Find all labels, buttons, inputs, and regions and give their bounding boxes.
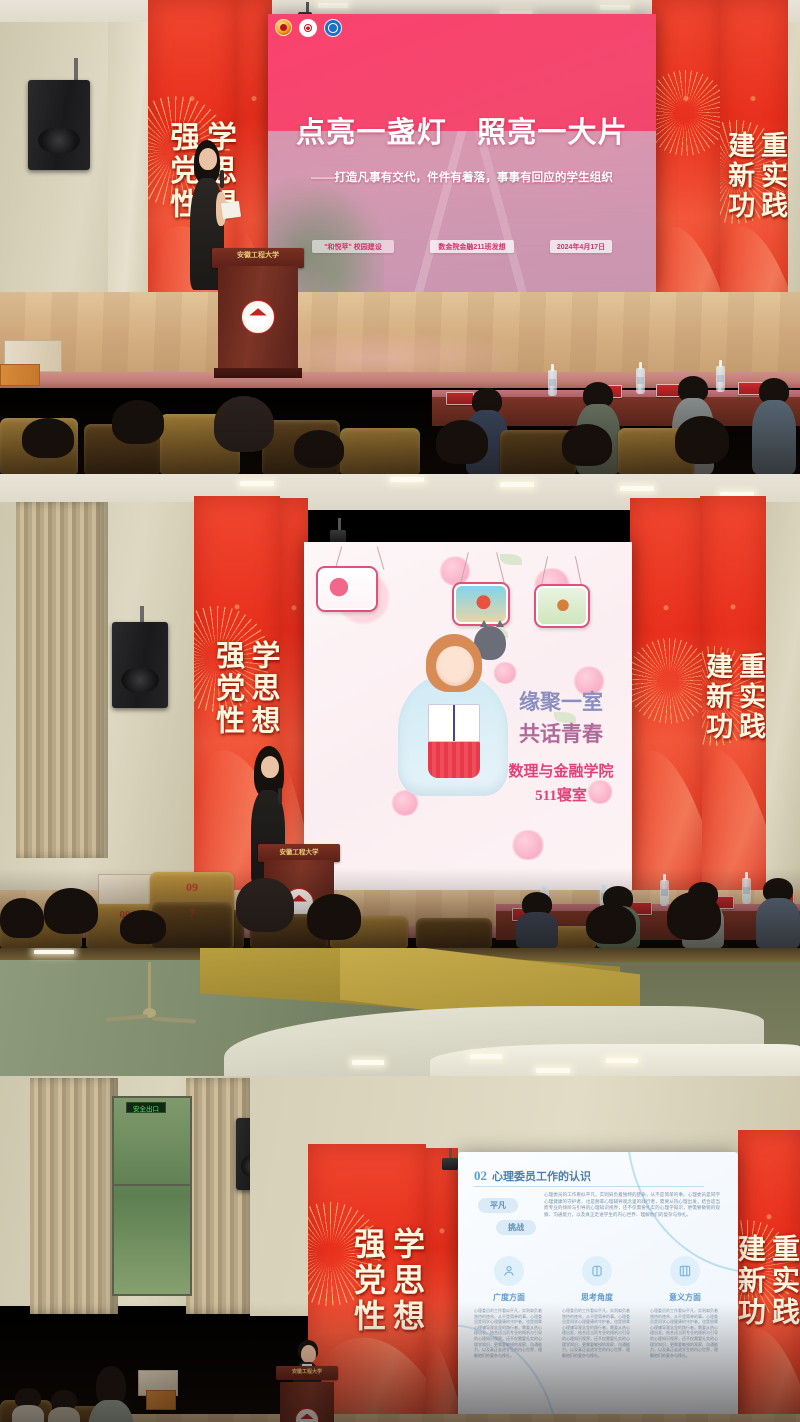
stage-backdrop-center (426, 1148, 458, 1422)
audience-member (20, 418, 76, 474)
slide-logos (275, 19, 342, 37)
audience-member (664, 892, 724, 948)
slide-line-2: 共话青春 (496, 718, 626, 748)
youth-league-emblem-icon (275, 19, 292, 36)
photo-collage: 学思想 强党性 重实践 建新功 (0, 0, 800, 1422)
presenter-head (199, 148, 217, 170)
wall-speaker (112, 622, 168, 708)
stage-backdrop-right (630, 498, 702, 890)
audience-member (118, 910, 170, 948)
audience-member (584, 904, 640, 948)
banner-right-text: 重实践 建新功 (738, 1146, 800, 1418)
slide-heading: 02 心理委员工作的认识 (474, 1168, 591, 1184)
picture-frame-octopus (316, 566, 378, 612)
picture-frame-bear (534, 584, 590, 628)
cardboard-box (0, 364, 40, 386)
firework-icon (652, 70, 720, 156)
column-body-3: 心理委员的工作看似平凡，实则肩负着独特的使命，从不是简单的事。心理委员是同学心理… (650, 1308, 718, 1396)
audience-hair (586, 904, 636, 944)
column-body-2: 心理委员的工作看似平凡，实则肩负着独特的使命，从不是简单的事。心理委员是同学心理… (562, 1308, 630, 1396)
water-bottle (716, 366, 725, 392)
slide-1: 点亮一盏灯 照亮一大片 ——打造凡事有交代，件件有着落，事事有回应的学生组织 "… (268, 14, 656, 292)
audience-member (48, 1390, 80, 1422)
audience-hair (120, 910, 166, 944)
auditorium-chair (416, 918, 492, 948)
window-curtain (186, 1078, 254, 1314)
audience-member (40, 888, 102, 948)
slide-tag: 数金院金融211班发想 (430, 240, 514, 253)
podium-sign-text: 安徽工程大学 (212, 250, 304, 260)
ceiling-light (34, 950, 74, 954)
audience-hair (562, 424, 612, 466)
audience-member (208, 396, 280, 474)
slide-line-1: 缘聚一室 (496, 686, 626, 716)
banner-swoosh (426, 1335, 458, 1422)
presentation-screen: 02 心理委员工作的认识 平凡 挑战 心理委员的工作看似平凡，实则肩负着独特的使… (458, 1152, 738, 1420)
podium-top: 安徽工程大学 (276, 1366, 338, 1380)
brain-icon (590, 1264, 604, 1278)
slide-photo-background (268, 131, 656, 292)
section-number: 02 (474, 1168, 487, 1184)
column-body-1: 心理委员的工作看似平凡，实则肩负着独特的使命，从不是简单的事。心理委员是同学心理… (474, 1308, 542, 1396)
microphone (278, 788, 282, 804)
audience-body (48, 1407, 80, 1422)
audience-member (756, 878, 800, 948)
audience-hair (236, 878, 294, 932)
ceiling-light (470, 1054, 502, 1059)
side-window (112, 1096, 192, 1296)
banner-right-text: 重实践 建新功 (718, 21, 788, 331)
slide-tag: 2024年4月17日 (550, 240, 612, 253)
leaf-decoration (500, 554, 522, 565)
slide-2: 缘聚一室 共话青春 数理与金融学院 511寝室 (304, 542, 632, 890)
audience-hair (214, 396, 274, 452)
stage-curtain (16, 502, 108, 858)
podium-sign-text: 安徽工程大学 (276, 1368, 338, 1375)
exit-sign: 安全出口 (126, 1102, 166, 1113)
audience-body (756, 898, 800, 948)
audience-member (516, 892, 558, 948)
audience-body (12, 1405, 44, 1422)
ceiling-light (240, 481, 274, 486)
column-icon-2 (582, 1256, 612, 1286)
audience-hair (44, 888, 98, 934)
projector (442, 1158, 458, 1170)
open-book-illustration (428, 704, 480, 742)
presentation-screen: 点亮一盏灯 照亮一大片 ——打造凡事有交代，件件有着落，事事有回应的学生组织 "… (268, 14, 656, 292)
audience-hair (112, 400, 164, 444)
column-heading-2: 思考角度 (562, 1292, 632, 1303)
panel-1-opening-presentation: 学思想 强党性 重实践 建新功 (0, 0, 800, 474)
water-bottle (742, 878, 751, 904)
ceiling-light (318, 3, 348, 8)
intro-paragraph: 心理委员的工作看似平凡，实则肩负着独特的使命，从不是简单的事。心理委员是同学心理… (544, 1192, 720, 1219)
wall-speaker (28, 80, 90, 170)
column-icon-1 (494, 1256, 524, 1286)
podium-body (218, 266, 297, 378)
audience-hair (436, 420, 488, 464)
banner-swoosh (630, 742, 702, 890)
slide-title: 点亮一盏灯 照亮一大片 (268, 109, 656, 151)
water-bottle (636, 368, 645, 394)
column-heading-1: 广度方面 (474, 1292, 544, 1303)
pill-label: 平凡 (478, 1198, 518, 1213)
podium-body (280, 1382, 333, 1422)
audience-member (752, 378, 796, 474)
slide-line-4: 511寝室 (494, 784, 628, 805)
microphone (220, 170, 224, 188)
girl-dress (428, 738, 480, 778)
audience-member (560, 424, 616, 474)
slide-subtitle: ——打造凡事有交代，件件有着落，事事有回应的学生组织 (268, 169, 656, 185)
audience-body (752, 400, 796, 474)
heading-rule (474, 1186, 704, 1187)
university-emblem-icon (299, 19, 317, 37)
cardboard-box (146, 1390, 176, 1410)
column-heading-3: 意义方面 (650, 1292, 720, 1303)
presentation-screen: 缘聚一室 共话青春 数理与金融学院 511寝室 (304, 542, 632, 890)
audience-hair (294, 430, 344, 468)
podium-top: 安徽工程大学 (212, 248, 304, 268)
audience-member (292, 430, 348, 474)
ceiling-light (390, 477, 424, 482)
auditorium-chair (340, 428, 420, 474)
right-wall (760, 502, 800, 892)
presenter-head (261, 756, 279, 778)
speech-notes (221, 201, 241, 219)
podium-sign-text: 安徽工程大学 (258, 846, 340, 856)
frame-hang-line (377, 546, 385, 569)
column-icon-3 (670, 1256, 700, 1286)
chair-number: 09 (186, 880, 198, 895)
audience-member (0, 898, 46, 948)
ceiling-light (500, 482, 534, 487)
cat-ear-icon (496, 620, 504, 627)
ceiling-light (352, 1060, 384, 1065)
ceiling-light (536, 1068, 570, 1073)
slide-tag: "和悦苹" 校园建设 (312, 240, 394, 253)
frame-hang-line (575, 556, 582, 586)
audience-hair (675, 416, 729, 464)
slide-tag-row: "和悦苹" 校园建设 数金院金融211班发想 2024年4月17日 (268, 240, 656, 253)
attendee-body (88, 1400, 134, 1422)
university-crest-icon (295, 1408, 319, 1422)
slide-line-3: 数理与金融学院 (494, 760, 628, 781)
book-icon (678, 1264, 692, 1278)
ceiling-light (606, 1058, 638, 1063)
audience-body (516, 912, 558, 948)
water-bottle (548, 370, 557, 396)
presenter-head (301, 1345, 316, 1363)
panel-2-dorm-presentation: 学思想 强党性 重实践 建新功 (0, 474, 800, 948)
audience-member (304, 894, 364, 948)
chair-number: 7 (189, 906, 195, 921)
blossom-decoration (510, 830, 546, 860)
fan-rod (148, 962, 151, 1010)
window-curtain (30, 1078, 118, 1314)
audience-hair (22, 418, 74, 458)
ceiling-light (620, 486, 654, 491)
podium: 安徽工程大学 (212, 248, 304, 378)
audience-member (108, 400, 168, 474)
audience-hair (307, 894, 361, 940)
standing-attendee (88, 1366, 134, 1422)
person-icon (502, 1264, 516, 1278)
panel-3-psychology-committee-presentation: 安全出口 学思想 强党性 重实践 建新功 02 (0, 948, 800, 1422)
blue-org-emblem-icon (324, 19, 342, 37)
university-crest-icon (241, 300, 275, 334)
slide-3: 02 心理委员工作的认识 平凡 挑战 心理委员的工作看似平凡，实则肩负着独特的使… (458, 1152, 738, 1420)
section-title: 心理委员工作的认识 (492, 1168, 591, 1184)
audience-hair (0, 898, 44, 938)
audience-hair (667, 892, 721, 940)
ceiling-light (600, 5, 630, 10)
blossom-decoration (492, 662, 518, 684)
audience-member (434, 420, 490, 474)
podium-base (214, 368, 302, 378)
audience-member (12, 1388, 44, 1422)
girl-head (436, 646, 474, 686)
podium: 安徽工程大学 (276, 1366, 338, 1422)
banner-right: 重实践 建新功 (738, 1130, 800, 1422)
audience-member (232, 878, 298, 948)
banner-right-text: 重实践 建新功 (700, 528, 766, 868)
banner-right: 重实践 建新功 (700, 496, 766, 892)
pill-label: 挑战 (496, 1220, 536, 1235)
audience-member (672, 416, 732, 474)
firework-icon (630, 638, 702, 724)
